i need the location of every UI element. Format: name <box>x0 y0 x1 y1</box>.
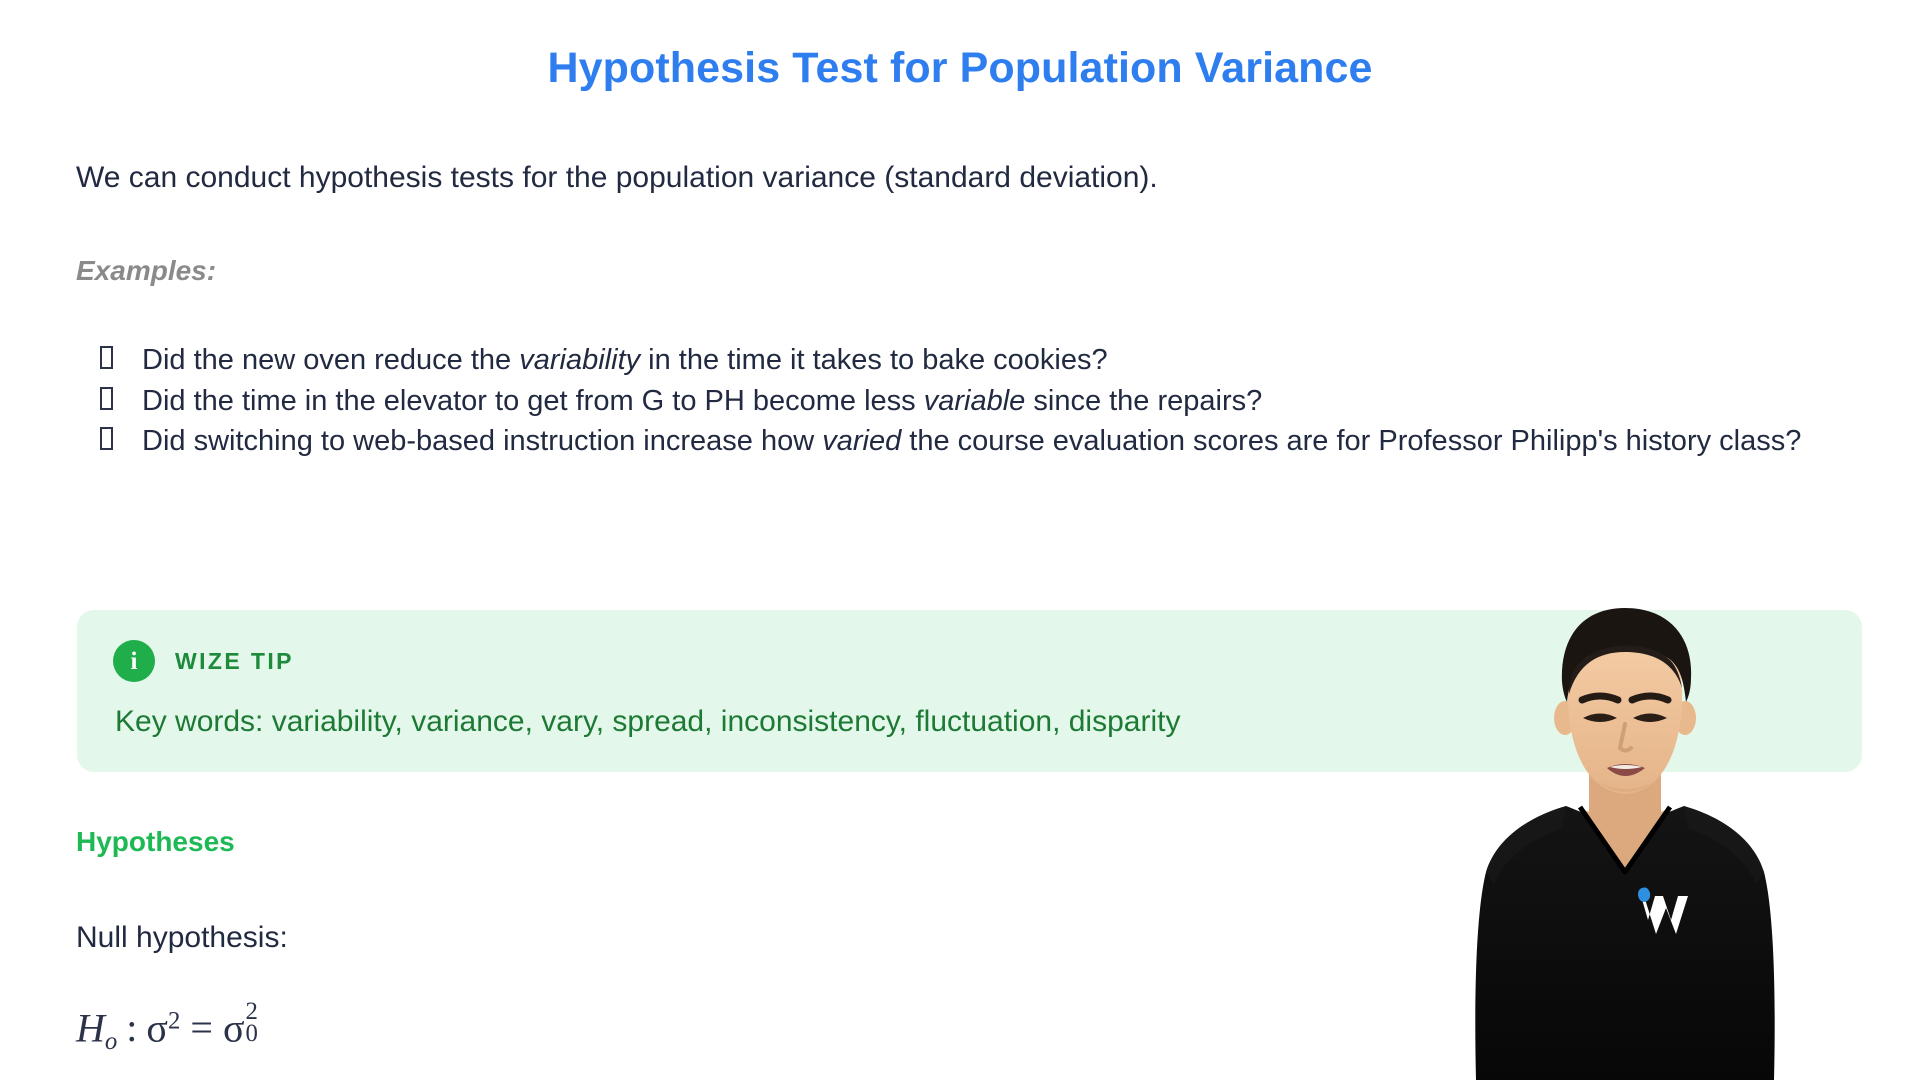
list-item-text-before: Did switching to web-based instruction i… <box>142 425 822 457</box>
list-item-text: Did switching to web-based instruction i… <box>142 422 1842 461</box>
null-hypothesis-label: Null hypothesis: <box>76 921 288 955</box>
formula-symbol: H <box>76 1005 105 1050</box>
intro-paragraph: We can conduct hypothesis tests for the … <box>76 158 1158 198</box>
slide-canvas: Hypothesis Test for Population Variance … <box>0 0 1920 1080</box>
formula-symbol-sub: o <box>105 1028 117 1055</box>
list-item-text: Did the time in the elevator to get from… <box>142 382 1842 421</box>
wize-tip-body: Key words: variability, variance, vary, … <box>115 702 1180 741</box>
hypotheses-heading: Hypotheses <box>76 826 235 858</box>
wize-tip-header: i WIZE TIP <box>113 640 294 682</box>
missing-glyph-box-icon <box>100 422 142 450</box>
examples-label: Examples: <box>76 255 216 287</box>
list-item: Did the new oven reduce the variability … <box>100 341 1890 380</box>
formula-rhs-sub: 0 <box>246 1022 258 1046</box>
info-icon: i <box>113 640 155 682</box>
null-hypothesis-formula: Ho:σ2=σ20 <box>76 1000 258 1055</box>
formula-lhs: σ <box>146 1005 168 1050</box>
examples-list: Did the new oven reduce the variability … <box>100 341 1890 463</box>
formula-operator: = <box>190 1005 213 1050</box>
wize-tip-label: WIZE TIP <box>175 648 294 675</box>
list-item-text-after: the course evaluation scores are for Pro… <box>901 425 1801 457</box>
list-item-text-after: in the time it takes to bake cookies? <box>640 344 1107 376</box>
list-item-emphasis: variable <box>924 385 1026 417</box>
list-item: Did switching to web-based instruction i… <box>100 422 1890 461</box>
formula-lhs-sup: 2 <box>168 1007 180 1034</box>
page-title: Hypothesis Test for Population Variance <box>0 44 1920 93</box>
missing-glyph-box-icon <box>100 382 142 410</box>
list-item-emphasis: variability <box>519 344 640 376</box>
formula-colon: : <box>126 1005 137 1050</box>
missing-glyph-box-icon <box>100 341 142 369</box>
list-item-text: Did the new oven reduce the variability … <box>142 341 1842 380</box>
instructor-figure <box>1470 596 1780 1080</box>
list-item-text-after: since the repairs? <box>1025 385 1262 417</box>
list-item: Did the time in the elevator to get from… <box>100 382 1890 421</box>
list-item-emphasis: varied <box>822 425 901 457</box>
instructor-video-overlay <box>1470 596 1780 1080</box>
list-item-text-before: Did the new oven reduce the <box>142 344 519 376</box>
formula-rhs: σ <box>223 1005 245 1050</box>
list-item-text-before: Did the time in the elevator to get from… <box>142 385 924 417</box>
formula-rhs-subsup: 20 <box>246 1000 258 1046</box>
